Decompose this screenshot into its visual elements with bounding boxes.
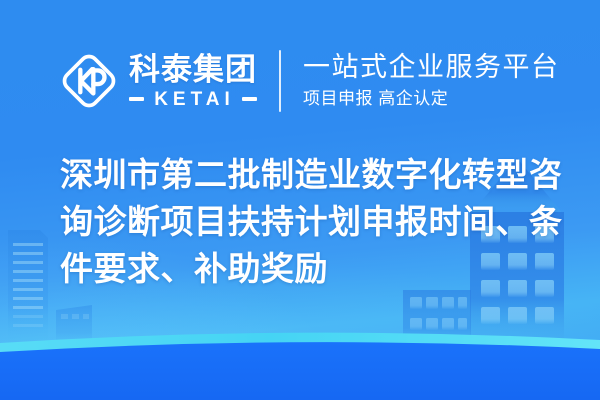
dash-left-icon (129, 97, 144, 101)
ketai-diamond-kp-logo-icon (58, 50, 120, 112)
brand-name-cn: 科泰集团 (129, 53, 257, 86)
brand-name-en-row: KETAI (129, 90, 257, 109)
tagline-main: 一站式企业服务平台 (303, 52, 560, 83)
tagline-sub: 项目申报 高企认定 (303, 89, 560, 109)
page-title: 深圳市第二批制造业数字化转型咨询诊断项目扶持计划申报时间、条件要求、补助奖励 (60, 152, 565, 293)
brand-name-en: KETAI (144, 90, 242, 109)
tagline: 一站式企业服务平台 项目申报 高企认定 (303, 52, 560, 109)
banner-header: 科泰集团 KETAI 一站式企业服务平台 项目申报 高企认定 (0, 40, 600, 122)
brand-logo[interactable]: 科泰集团 KETAI (58, 50, 257, 112)
promo-banner: 科泰集团 KETAI 一站式企业服务平台 项目申报 高企认定 深圳市第二批制造业… (0, 0, 600, 400)
brand-wordmark: 科泰集团 KETAI (129, 53, 257, 108)
vertical-divider-icon (279, 50, 281, 112)
dash-right-icon (242, 97, 257, 101)
